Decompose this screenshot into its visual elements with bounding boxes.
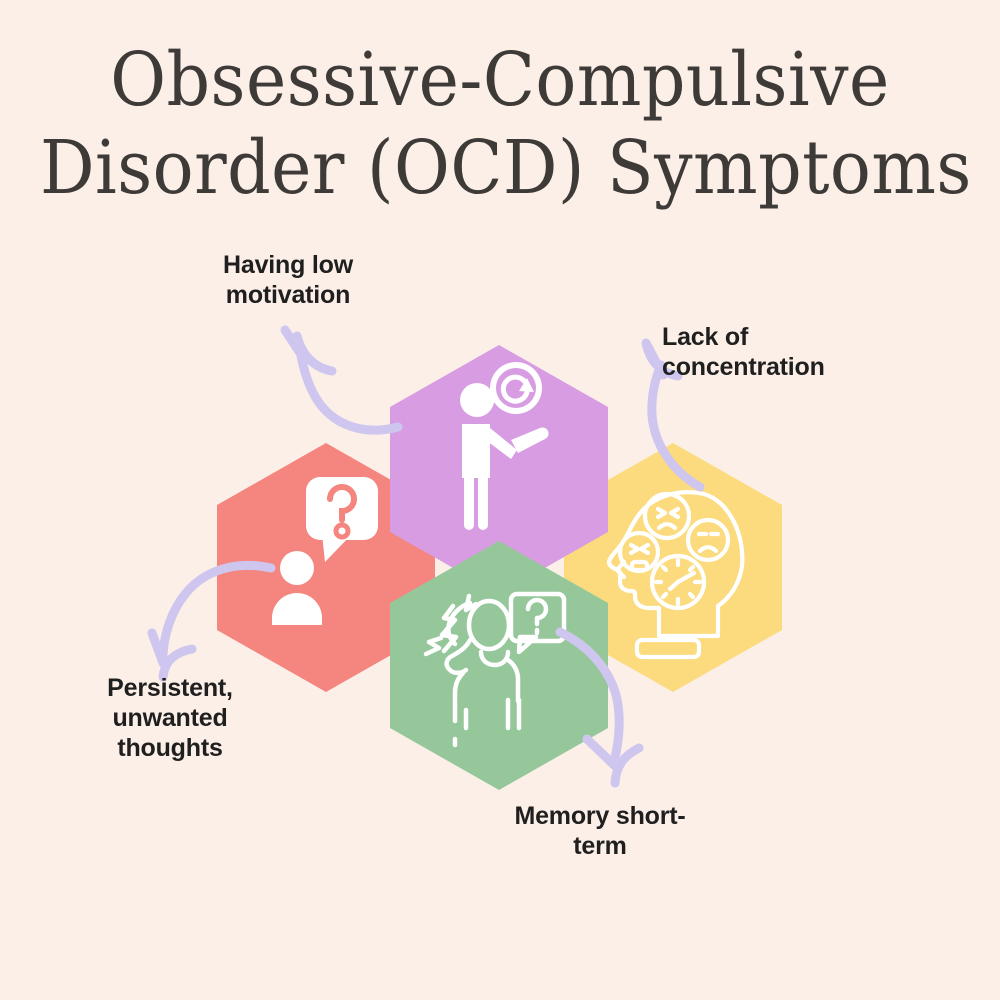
label-line-1: Memory short-	[514, 802, 685, 830]
label-persistent-unwanted-thoughts: Persistent, unwanted thoughts	[62, 673, 278, 763]
arrow-to-motivation	[285, 330, 398, 430]
label-line-1: Lack of	[662, 323, 748, 351]
label-line-1: Persistent,	[107, 674, 233, 702]
label-lack-of-concentration: Lack of concentration	[662, 322, 902, 382]
label-line-2: motivation	[226, 281, 350, 309]
label-line-1: Having low	[223, 251, 353, 279]
label-having-low-motivation: Having low motivation	[178, 250, 398, 310]
label-line-2: term	[573, 832, 626, 860]
label-line-3: thoughts	[117, 734, 222, 762]
label-line-2: concentration	[662, 353, 825, 381]
label-line-2: unwanted	[112, 704, 227, 732]
label-memory-short-term: Memory short- term	[480, 801, 720, 861]
infographic-canvas: Obsessive-Compulsive Disorder (OCD) Symp…	[0, 0, 1000, 1000]
